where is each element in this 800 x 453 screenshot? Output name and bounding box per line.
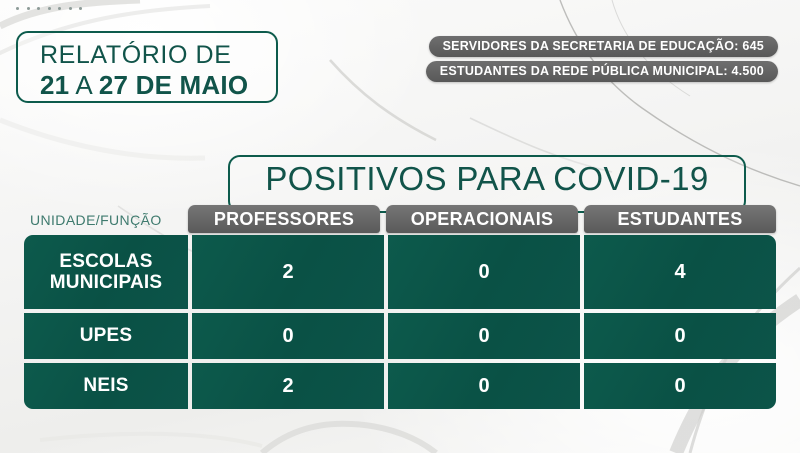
stat-pill-servidores: SERVIDORES DA SECRETARIA DE EDUCAÇÃO: 64…	[429, 36, 778, 57]
column-header-professores: PROFESSORES	[188, 205, 380, 233]
table-body: ESCOLAS MUNICIPAIS 2 0 4 UPES 0 0 0 NEIS…	[24, 235, 776, 409]
table-column-headers: PROFESSORES OPERACIONAIS ESTUDANTES	[188, 205, 776, 233]
cell-escolas-operacionais: 0	[388, 235, 580, 309]
stat-pill-estudantes: ESTUDANTES DA REDE PÚBLICA MUNICIPAL: 4.…	[426, 61, 778, 82]
column-header-operacionais: OPERACIONAIS	[386, 205, 578, 233]
dot	[37, 7, 40, 10]
cell-neis-operacionais: 0	[388, 363, 580, 409]
cell-upes-estudantes: 0	[584, 313, 776, 359]
table-row: NEIS 2 0 0	[24, 363, 776, 409]
row-label-upes: UPES	[24, 313, 188, 359]
table-row: ESCOLAS MUNICIPAIS 2 0 4	[24, 235, 776, 309]
cell-escolas-professores: 2	[192, 235, 384, 309]
report-conjunction: A	[75, 70, 91, 100]
report-day-end: 27 DE MAIO	[99, 70, 248, 100]
row-label-line1: ESCOLAS	[50, 251, 162, 272]
stat-pill-group: SERVIDORES DA SECRETARIA DE EDUCAÇÃO: 64…	[426, 36, 778, 82]
row-header-label: UNIDADE/FUNÇÃO	[30, 212, 162, 228]
cell-escolas-estudantes: 4	[584, 235, 776, 309]
cell-upes-professores: 0	[192, 313, 384, 359]
table-title: POSITIVOS PARA COVID-19	[265, 160, 708, 198]
report-day-start: 21	[40, 70, 69, 100]
report-date-range: 21 A 27 DE MAIO	[40, 70, 276, 101]
cell-neis-estudantes: 0	[584, 363, 776, 409]
row-label-neis: NEIS	[24, 363, 188, 409]
dot	[16, 7, 19, 10]
column-header-estudantes: ESTUDANTES	[584, 205, 776, 233]
decorative-dots	[16, 7, 82, 10]
row-label-line2: MUNICIPAIS	[50, 272, 162, 293]
covid-report-poster: RELATÓRIO DE 21 A 27 DE MAIO SERVIDORES …	[0, 0, 800, 453]
cell-neis-professores: 2	[192, 363, 384, 409]
table-row: UPES 0 0 0	[24, 313, 776, 359]
dot	[27, 7, 30, 10]
dot	[69, 7, 72, 10]
dot	[58, 7, 61, 10]
report-date-box: RELATÓRIO DE 21 A 27 DE MAIO	[16, 31, 278, 103]
dot	[79, 7, 82, 10]
row-label-escolas-municipais: ESCOLAS MUNICIPAIS	[24, 235, 188, 309]
report-title: RELATÓRIO DE	[40, 41, 276, 70]
cell-upes-operacionais: 0	[388, 313, 580, 359]
dot	[48, 7, 51, 10]
